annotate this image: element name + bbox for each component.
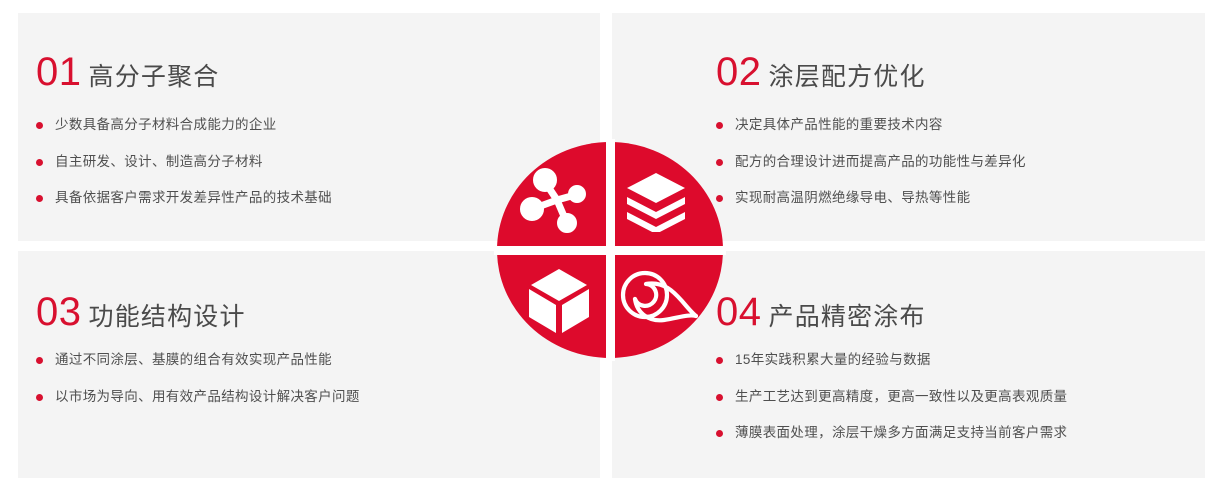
list-item: 少数具备高分子材料合成能力的企业 bbox=[36, 118, 332, 132]
list-item-text: 配方的合理设计进而提高产品的功能性与差异化 bbox=[735, 154, 1026, 169]
list-item: 15年实践积累大量的经验与数据 bbox=[716, 353, 1067, 367]
list-item: 通过不同涂层、基膜的组合有效实现产品性能 bbox=[36, 353, 360, 367]
step-title-04: 产品精密涂布 bbox=[769, 303, 926, 331]
infographic-canvas: 01高分子聚合 少数具备高分子材料合成能力的企业 自主研发、设计、制造高分子材料… bbox=[0, 0, 1219, 483]
list-item-text: 薄膜表面处理，涂层干燥多方面满足支持当前客户需求 bbox=[735, 425, 1067, 440]
bullet-dot-icon bbox=[36, 357, 43, 364]
bullet-list-01: 少数具备高分子材料合成能力的企业 自主研发、设计、制造高分子材料 具备依据客户需… bbox=[36, 118, 332, 228]
list-item: 生产工艺达到更高精度，更高一致性以及更高表观质量 bbox=[716, 390, 1067, 404]
list-item-text: 少数具备高分子材料合成能力的企业 bbox=[55, 117, 277, 132]
list-item-text: 具备依据客户需求开发差异性产品的技术基础 bbox=[55, 190, 332, 205]
heading-03: 03功能结构设计 bbox=[36, 292, 246, 332]
bullet-dot-icon bbox=[36, 122, 43, 129]
step-title-02: 涂层配方优化 bbox=[769, 63, 926, 91]
step-number-01: 01 bbox=[36, 50, 82, 94]
list-item-text: 15年实践积累大量的经验与数据 bbox=[735, 352, 931, 367]
bullet-dot-icon bbox=[716, 122, 723, 129]
hub-quadrant-layers[interactable] bbox=[610, 142, 723, 250]
list-item: 决定具体产品性能的重要技术内容 bbox=[716, 118, 1026, 132]
list-item: 配方的合理设计进而提高产品的功能性与差异化 bbox=[716, 155, 1026, 169]
list-item-text: 通过不同涂层、基膜的组合有效实现产品性能 bbox=[55, 352, 332, 367]
list-item: 具备依据客户需求开发差异性产品的技术基础 bbox=[36, 191, 332, 205]
list-item-text: 决定具体产品性能的重要技术内容 bbox=[735, 117, 943, 132]
hub-quadrant-film-roll[interactable] bbox=[610, 250, 723, 358]
step-number-02: 02 bbox=[716, 50, 762, 94]
heading-04: 04产品精密涂布 bbox=[716, 292, 926, 332]
hub-quadrant-cube[interactable] bbox=[497, 250, 610, 358]
list-item: 以市场为导向、用有效产品结构设计解决客户问题 bbox=[36, 390, 360, 404]
bullet-list-03: 通过不同涂层、基膜的组合有效实现产品性能 以市场为导向、用有效产品结构设计解决客… bbox=[36, 353, 360, 426]
step-number-03: 03 bbox=[36, 290, 82, 334]
bullet-dot-icon bbox=[36, 394, 43, 401]
heading-01: 01高分子聚合 bbox=[36, 52, 220, 92]
list-item-text: 实现耐高温阴燃绝缘导电、导热等性能 bbox=[735, 190, 970, 205]
list-item: 实现耐高温阴燃绝缘导电、导热等性能 bbox=[716, 191, 1026, 205]
step-title-01: 高分子聚合 bbox=[89, 63, 220, 91]
center-hub bbox=[497, 142, 723, 358]
bullet-dot-icon bbox=[716, 430, 723, 437]
list-item: 薄膜表面处理，涂层干燥多方面满足支持当前客户需求 bbox=[716, 426, 1067, 440]
list-item: 自主研发、设计、制造高分子材料 bbox=[36, 155, 332, 169]
heading-02: 02涂层配方优化 bbox=[716, 52, 926, 92]
hub-divider-horizontal bbox=[494, 246, 726, 255]
list-item-text: 生产工艺达到更高精度，更高一致性以及更高表观质量 bbox=[735, 389, 1067, 404]
bullet-dot-icon bbox=[36, 195, 43, 202]
bullet-dot-icon bbox=[716, 394, 723, 401]
step-title-03: 功能结构设计 bbox=[89, 303, 246, 331]
list-item-text: 自主研发、设计、制造高分子材料 bbox=[55, 154, 263, 169]
bullet-dot-icon bbox=[716, 357, 723, 364]
list-item-text: 以市场为导向、用有效产品结构设计解决客户问题 bbox=[55, 389, 360, 404]
hub-quadrant-molecule[interactable] bbox=[497, 142, 610, 250]
bullet-dot-icon bbox=[36, 159, 43, 166]
bullet-list-02: 决定具体产品性能的重要技术内容 配方的合理设计进而提高产品的功能性与差异化 实现… bbox=[716, 118, 1026, 228]
bullet-list-04: 15年实践积累大量的经验与数据 生产工艺达到更高精度，更高一致性以及更高表观质量… bbox=[716, 353, 1067, 463]
